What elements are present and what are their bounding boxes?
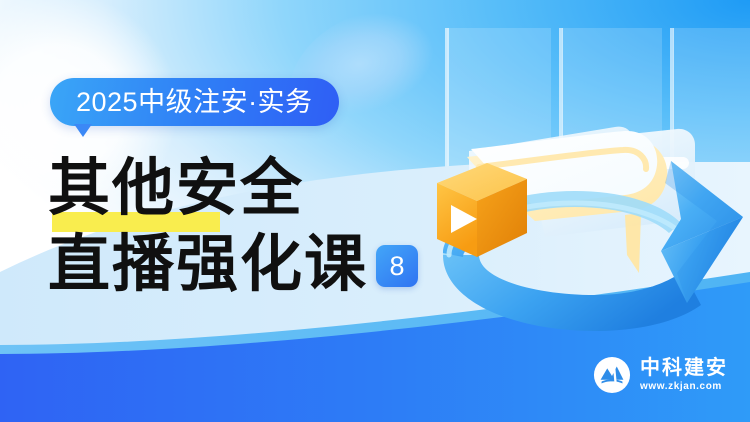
zkjan-peak-logo-icon	[593, 356, 631, 394]
folder-flap	[625, 213, 641, 273]
badge-tail	[74, 124, 92, 137]
episode-number-badge: 8	[376, 245, 418, 287]
headline-line-2: 直播强化课	[48, 226, 368, 302]
brand-text: 中科建安 www.zkjan.com	[640, 357, 728, 393]
course-banner: 2025中级注安·实务 其他安全 直播强化课 8	[0, 0, 750, 422]
course-category-label: 2025中级注安·实务	[76, 89, 313, 116]
headline-line-1-row: 其他安全	[48, 150, 468, 226]
brand-logo[interactable]: 中科建安 www.zkjan.com	[593, 356, 728, 394]
folder-arrow-illustration	[425, 105, 750, 355]
brand-name: 中科建安	[640, 357, 728, 379]
headline-line-1: 其他安全	[48, 150, 468, 226]
brand-url: www.zkjan.com	[640, 380, 728, 393]
course-category-badge[interactable]: 2025中级注安·实务	[50, 78, 339, 126]
headline-line-2-row: 直播强化课 8	[48, 226, 468, 302]
headline-block: 其他安全 直播强化课 8	[48, 150, 468, 302]
